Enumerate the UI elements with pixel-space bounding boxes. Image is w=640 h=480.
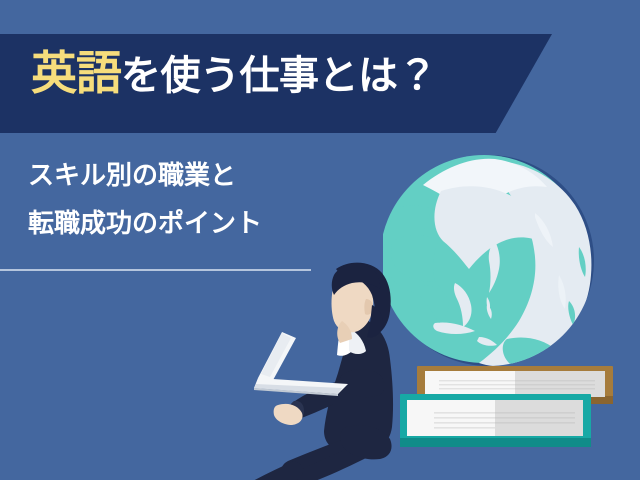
book-bottom <box>400 394 591 447</box>
subtitle-line-2: 転職成功のポイント <box>28 200 358 248</box>
subtitle-block: スキル別の職業と 転職成功のポイント <box>28 152 358 248</box>
page-title-rest: を使う仕事とは？ <box>121 53 437 99</box>
subtitle-line-1: スキル別の職業と <box>28 152 358 200</box>
page-title-highlight: 英語 <box>31 46 121 100</box>
page-title: 英語を使う仕事とは？ <box>31 50 437 96</box>
poster-canvas: 英語を使う仕事とは？ スキル別の職業と 転職成功のポイント <box>0 0 640 480</box>
laptop-icon <box>252 330 377 400</box>
